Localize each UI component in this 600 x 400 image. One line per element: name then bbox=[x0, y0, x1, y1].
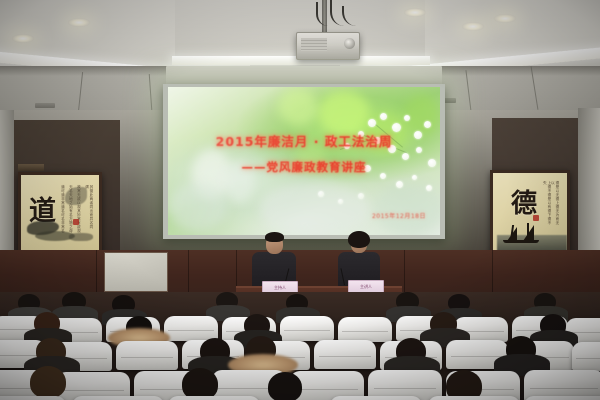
chair-covered bbox=[338, 317, 392, 342]
calligraphy-banner-left: 道 道可道非常道名可名非常名 无名天地之始有名万物之母 故常无欲以观其妙常有欲观… bbox=[18, 172, 102, 256]
attendee-head bbox=[268, 372, 302, 400]
blossom-icon bbox=[424, 121, 431, 128]
bokeh-blob bbox=[374, 183, 440, 235]
air-vent bbox=[35, 103, 55, 108]
banner-vertical-text: 道可道非常道名可名非常名 bbox=[61, 185, 65, 235]
blossom-icon bbox=[412, 175, 417, 180]
chair-covered bbox=[524, 396, 600, 400]
banner-header-plate-left bbox=[18, 164, 44, 171]
ceiling-projector bbox=[296, 32, 360, 60]
downlight-icon bbox=[494, 14, 516, 23]
chair-covered bbox=[116, 341, 178, 370]
projection-screen-frame: 2015年廉洁月 · 政工法治周 ——党风廉政教育讲座 2015年12月18日 bbox=[163, 84, 445, 239]
bokeh-blob bbox=[260, 183, 370, 235]
chair-covered bbox=[330, 396, 422, 400]
bokeh-blob bbox=[168, 183, 228, 231]
red-seal-icon bbox=[73, 219, 79, 225]
banner-vertical-text: 德是以无德上德无为而无以 bbox=[551, 181, 560, 225]
ink-painting-branch bbox=[69, 233, 93, 241]
blossom-icon bbox=[318, 191, 324, 197]
chair-covered bbox=[428, 396, 520, 400]
speaker-right-hair bbox=[348, 231, 370, 248]
chair-covered bbox=[164, 316, 218, 341]
chair-covered bbox=[314, 340, 376, 369]
downlight-icon bbox=[404, 8, 426, 17]
bokeh-blob bbox=[318, 91, 370, 135]
downlight-icon bbox=[12, 34, 34, 43]
blossom-icon bbox=[368, 119, 376, 127]
projector-lens-icon bbox=[344, 38, 355, 49]
slide-title-line1: 2015年廉洁月 · 政工法治周 bbox=[168, 131, 440, 150]
ink-painting-branch bbox=[65, 187, 87, 205]
speaker-left-hair bbox=[265, 232, 284, 242]
blossom-icon bbox=[338, 199, 343, 204]
calligraphy-banner-right: 德 上德不德是以有德下德不失 德是以无德上德无为而无以 bbox=[490, 170, 570, 262]
blossom-icon bbox=[396, 181, 403, 188]
bokeh-blob bbox=[278, 89, 318, 125]
seated-audience bbox=[0, 292, 600, 400]
blossom-icon bbox=[358, 193, 364, 199]
downlight-icon bbox=[68, 18, 90, 27]
projection-screen: 2015年廉洁月 · 政工法治周 ——党风廉政教育讲座 2015年12月18日 bbox=[168, 87, 440, 235]
chair-covered bbox=[280, 316, 334, 341]
chair-covered bbox=[572, 342, 600, 371]
blossom-icon bbox=[404, 115, 410, 121]
slide-title-line2: ——党风廉政教育讲座 bbox=[168, 159, 440, 175]
chair-covered bbox=[168, 396, 260, 400]
podium-board bbox=[104, 252, 168, 292]
attendee-head bbox=[30, 366, 66, 398]
slide-date: 2015年12月18日 bbox=[372, 211, 426, 220]
screen-housing bbox=[166, 66, 442, 86]
chair-covered bbox=[0, 396, 66, 400]
sailboat-hull-icon bbox=[503, 240, 539, 243]
bokeh-blob bbox=[404, 95, 440, 135]
red-seal-icon bbox=[533, 215, 539, 221]
chair-covered bbox=[72, 396, 164, 400]
projector-vent-grill bbox=[301, 38, 327, 51]
lecture-hall-photo: 2015年廉洁月 · 政工法治周 ——党风廉政教育讲座 2015年12月18日 … bbox=[0, 0, 600, 400]
blossom-icon bbox=[426, 185, 432, 191]
blossom-icon bbox=[380, 113, 387, 120]
downlight-icon bbox=[462, 22, 484, 31]
